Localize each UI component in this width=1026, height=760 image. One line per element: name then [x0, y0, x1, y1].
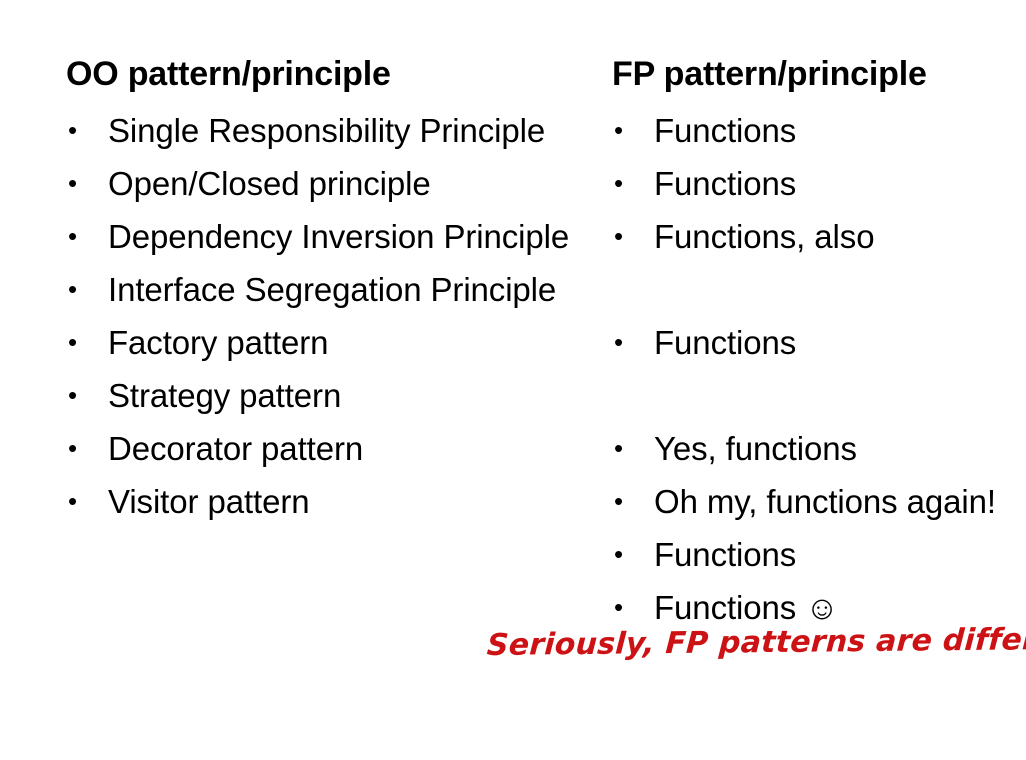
- fp-list-spacer: [612, 369, 1012, 422]
- bullet-dot-icon: •: [68, 369, 88, 422]
- oo-column-heading: OO pattern/principle: [66, 52, 576, 96]
- oo-item-label: Visitor pattern: [108, 475, 576, 528]
- oo-list-item: •Open/Closed principle: [66, 157, 576, 210]
- bullet-dot-icon: •: [68, 104, 88, 157]
- bullet-dot-icon: •: [68, 263, 88, 316]
- oo-item-label: Open/Closed principle: [108, 157, 576, 210]
- oo-list-item: •Visitor pattern: [66, 475, 576, 528]
- bullet-dot-icon: •: [614, 475, 634, 528]
- oo-list-item: •Interface Segregation Principle: [66, 263, 576, 316]
- oo-item-label: Single Responsibility Principle: [108, 104, 576, 157]
- oo-bullet-list: •Single Responsibility Principle•Open/Cl…: [66, 104, 576, 528]
- fp-list-item: •Functions: [612, 104, 1012, 157]
- handwritten-annotation: Seriously, FP patterns are different: [486, 622, 1026, 663]
- fp-item-label: Functions: [654, 528, 1012, 581]
- bullet-dot-icon: •: [68, 316, 88, 369]
- oo-column: OO pattern/principle •Single Responsibil…: [66, 52, 576, 528]
- fp-item-label: Functions, also: [654, 210, 1012, 263]
- bullet-dot-icon: •: [614, 528, 634, 581]
- fp-item-label: Functions: [654, 316, 1012, 369]
- oo-item-label: Dependency Inversion Principle: [108, 210, 576, 263]
- bullet-dot-icon: •: [68, 157, 88, 210]
- slide-canvas: OO pattern/principle •Single Responsibil…: [0, 0, 1026, 760]
- fp-list-spacer: [612, 263, 1012, 316]
- fp-column-heading: FP pattern/principle: [612, 52, 1012, 96]
- bullet-dot-icon: •: [68, 422, 88, 475]
- oo-list-item: •Dependency Inversion Principle: [66, 210, 576, 263]
- oo-item-label: Decorator pattern: [108, 422, 576, 475]
- oo-list-item: •Factory pattern: [66, 316, 576, 369]
- fp-list-item: •Functions, also: [612, 210, 1012, 263]
- fp-list-item: •Functions: [612, 316, 1012, 369]
- bullet-dot-icon: •: [614, 316, 634, 369]
- oo-item-label: Interface Segregation Principle: [108, 263, 576, 316]
- fp-list-item: •Functions: [612, 157, 1012, 210]
- bullet-dot-icon: •: [614, 210, 634, 263]
- fp-item-label: Oh my, functions again!: [654, 475, 1012, 528]
- oo-list-item: •Decorator pattern: [66, 422, 576, 475]
- fp-column: FP pattern/principle •Functions•Function…: [612, 52, 1012, 634]
- bullet-dot-icon: •: [68, 475, 88, 528]
- bullet-dot-icon: •: [68, 210, 88, 263]
- fp-item-label: Functions: [654, 157, 1012, 210]
- fp-list-item: •Functions: [612, 528, 1012, 581]
- fp-bullet-list: •Functions•Functions•Functions, also•Fun…: [612, 104, 1012, 634]
- bullet-dot-icon: •: [614, 157, 634, 210]
- oo-list-item: •Strategy pattern: [66, 369, 576, 422]
- fp-list-item: •Oh my, functions again!: [612, 475, 1012, 528]
- oo-list-item: •Single Responsibility Principle: [66, 104, 576, 157]
- oo-item-label: Strategy pattern: [108, 369, 576, 422]
- fp-item-label: Yes, functions: [654, 422, 1012, 475]
- fp-list-item: •Yes, functions: [612, 422, 1012, 475]
- bullet-dot-icon: •: [614, 422, 634, 475]
- bullet-dot-icon: •: [614, 104, 634, 157]
- oo-item-label: Factory pattern: [108, 316, 576, 369]
- fp-item-label: Functions: [654, 104, 1012, 157]
